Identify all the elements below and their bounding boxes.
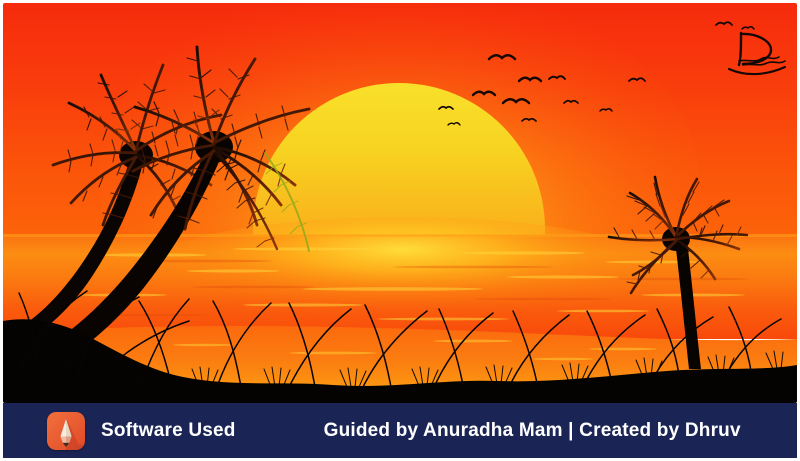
artwork-image <box>3 3 797 403</box>
sketchbook-pencil-icon <box>47 412 85 450</box>
software-used-label: Software Used <box>101 420 236 442</box>
screenshot-root: Software Used Guided by Anuradha Mam | C… <box>0 0 800 461</box>
credit-attribution-text: Guided by Anuradha Mam | Created by Dhru… <box>324 420 741 442</box>
software-used-group: Software Used <box>47 412 236 450</box>
credit-bar: Software Used Guided by Anuradha Mam | C… <box>3 403 797 458</box>
